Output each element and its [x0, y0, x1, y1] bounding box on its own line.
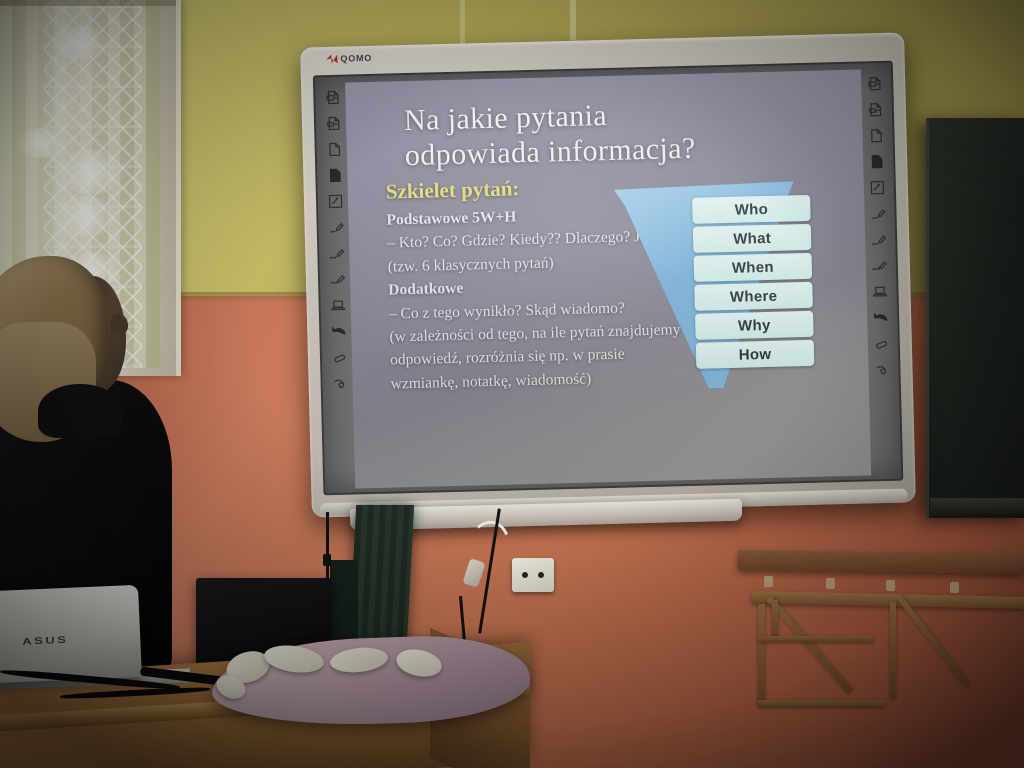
blank-page-icon[interactable]	[863, 123, 889, 149]
filled-page-icon[interactable]	[863, 149, 889, 175]
wall-seam-mid-b	[570, 0, 576, 40]
laptop-brand-label: ASUS	[22, 634, 69, 647]
laptop-lid[interactable]: ASUS	[0, 585, 142, 683]
funnel-label-where: Where	[694, 282, 813, 311]
socket-hole-right	[538, 572, 544, 578]
cable-clip	[323, 554, 331, 566]
undo-icon[interactable]	[867, 305, 893, 331]
funnel-diagram: WhoWhatWhenWhereWhyHow	[614, 180, 839, 400]
funnel-label-how: How	[696, 340, 815, 369]
interactive-whiteboard[interactable]: QOMO Na jakie pytania odpowiada informac…	[300, 32, 916, 517]
pen-thick-icon[interactable]	[866, 253, 892, 279]
blank-page-icon[interactable]	[321, 137, 347, 163]
desktop-icon[interactable]	[325, 293, 351, 319]
person-collar	[38, 384, 122, 438]
redo-icon[interactable]	[327, 371, 353, 397]
wall-power-socket	[512, 558, 554, 592]
eraser-icon[interactable]	[326, 345, 352, 371]
funnel-label-who: Who	[692, 195, 811, 224]
drafting-tool-rail	[738, 550, 1024, 574]
whiteboard-screen-area: Na jakie pytania odpowiada informacja? S…	[313, 61, 903, 496]
slide-subtitle: Szkielet pytań:	[386, 176, 520, 204]
funnel-label-what: What	[693, 224, 812, 253]
pen-medium-icon[interactable]	[324, 241, 350, 267]
pen-thick-icon[interactable]	[324, 267, 350, 293]
select-area-icon[interactable]	[864, 175, 890, 201]
filled-page-icon[interactable]	[322, 163, 348, 189]
whiteboard-brand-logo: QOMO	[326, 53, 372, 64]
classroom-scene: QOMO Na jakie pytania odpowiada informac…	[0, 0, 1024, 768]
desktop-icon[interactable]	[867, 279, 893, 305]
undo-icon[interactable]	[326, 319, 352, 345]
tool-peg-4	[950, 582, 959, 593]
page-link-icon[interactable]	[320, 111, 346, 137]
qomo-mark-icon	[326, 54, 337, 63]
page-link-icon[interactable]	[862, 97, 888, 123]
redo-icon[interactable]	[869, 357, 895, 383]
tool-peg-1	[764, 576, 773, 587]
socket-hole-left	[522, 572, 528, 578]
page-duplicate-icon[interactable]	[861, 71, 887, 97]
pen-medium-icon[interactable]	[865, 227, 891, 253]
brand-label: QOMO	[340, 53, 372, 64]
person-nose	[110, 314, 128, 334]
chalkboard-ledge	[930, 498, 1024, 514]
select-area-icon[interactable]	[322, 189, 348, 215]
funnel-label-why: Why	[695, 311, 814, 340]
wall-seam-mid-a	[460, 0, 465, 45]
tool-peg-2	[826, 578, 835, 589]
projected-slide: Na jakie pytania odpowiada informacja? S…	[345, 70, 871, 489]
tool-peg-3	[886, 580, 895, 591]
pen-thin-icon[interactable]	[865, 201, 891, 227]
chalkboard	[926, 118, 1024, 518]
funnel-label-when: When	[694, 253, 813, 282]
curtain-rod	[0, 0, 176, 6]
slide-title: Na jakie pytania odpowiada informacja?	[404, 92, 836, 174]
eraser-icon[interactable]	[868, 331, 894, 357]
pen-thin-icon[interactable]	[323, 215, 349, 241]
page-duplicate-icon[interactable]	[320, 85, 346, 111]
